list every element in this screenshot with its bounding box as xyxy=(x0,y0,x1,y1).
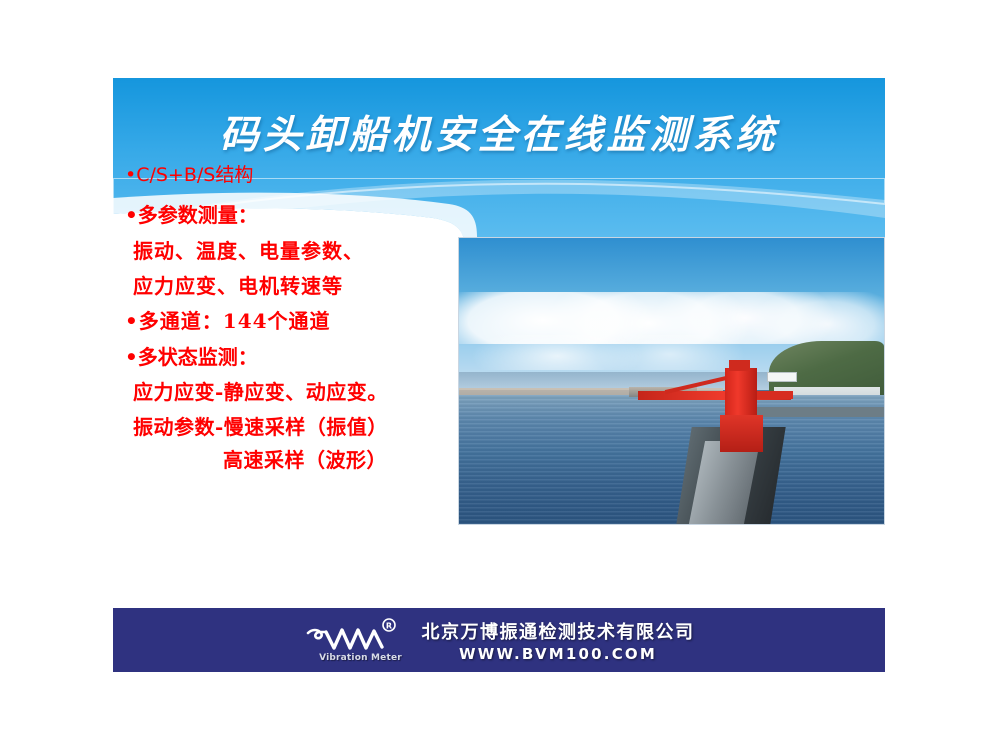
logo-caption: Vibration Meter xyxy=(314,653,408,663)
bullet-detail-params-2: 应力应变、电机转速等 xyxy=(123,276,468,296)
photo-crane-machinery-house xyxy=(729,360,750,371)
photo-right-pier xyxy=(757,407,885,417)
harbor-crane-photo xyxy=(458,237,885,525)
registered-mark-glyph: R xyxy=(385,622,391,631)
footer-bar: R Vibration Meter 北京万博振通检测技术有限公司 WWW.BVM… xyxy=(113,608,885,672)
vibration-meter-logo-icon: R Vibration Meter xyxy=(304,617,408,663)
bullet-item-channels: •多通道：144个通道 xyxy=(123,311,468,331)
bullet-item-multiparam: •多参数测量： xyxy=(123,205,468,225)
bullet-detail-vibration-fast: 高速采样（波形） xyxy=(123,450,468,470)
bullet-item-multistate: •多状态监测： xyxy=(123,347,468,367)
presentation-slide: 码头卸船机安全在线监测系统 •C/S+B/S结构 •多参数测量： 振动、温度、电… xyxy=(113,78,885,672)
bullet-detail-vibration-slow: 振动参数-慢速采样（振值） xyxy=(123,417,468,437)
photo-crane-signboard xyxy=(767,372,797,382)
company-name: 北京万博振通检测技术有限公司 xyxy=(422,618,695,644)
bullet-detail-strain: 应力应变-静应变、动应变。 xyxy=(123,382,468,402)
bullet-item-architecture: •C/S+B/S结构 xyxy=(123,166,468,185)
bullet-detail-params-1: 振动、温度、电量参数、 xyxy=(123,241,468,261)
company-website-url[interactable]: WWW.BVM100.COM xyxy=(459,645,657,663)
footer-text-block: 北京万博振通检测技术有限公司 WWW.BVM100.COM xyxy=(422,618,695,663)
photo-crane-base xyxy=(720,415,763,452)
photo-cloud-band-secondary xyxy=(468,335,766,369)
slide-title: 码头卸船机安全在线监测系统 xyxy=(113,104,885,160)
footer-content: R Vibration Meter 北京万博振通检测技术有限公司 WWW.BVM… xyxy=(304,617,695,663)
bullet-list: •C/S+B/S结构 •多参数测量： 振动、温度、电量参数、 应力应变、电机转速… xyxy=(123,166,468,470)
photo-crane-right-arm xyxy=(754,391,792,399)
